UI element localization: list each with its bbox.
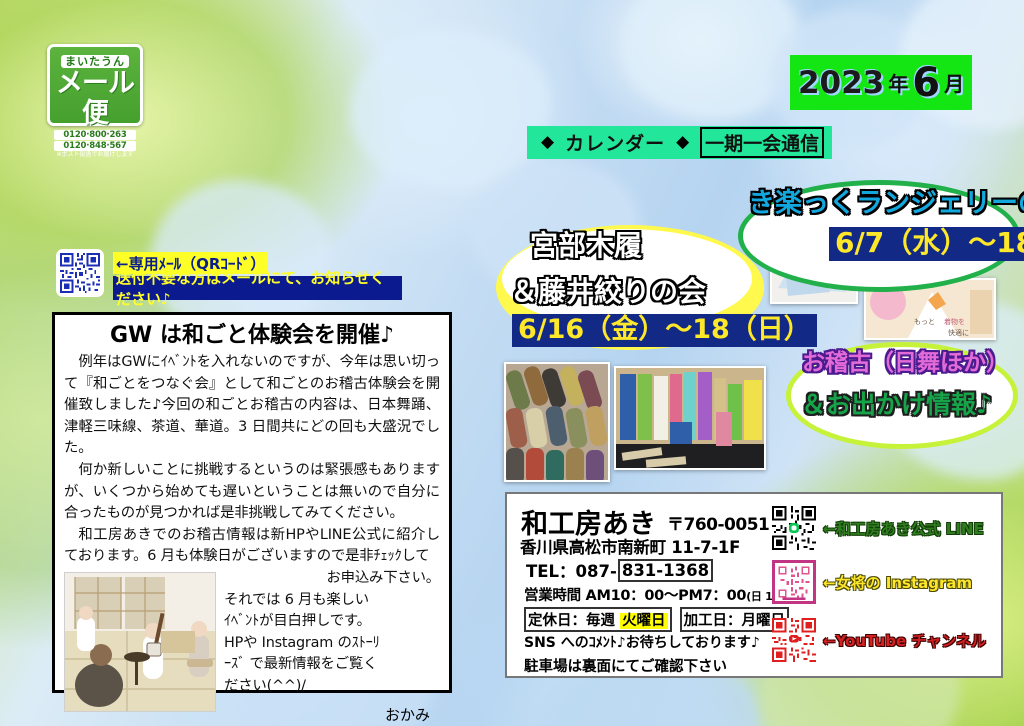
wagoto-lesson-photo bbox=[64, 572, 216, 712]
logo-note: ※ポスト投函でお届けします bbox=[54, 151, 136, 158]
event-title-geta-line2: ＆藤井絞りの会 bbox=[510, 278, 706, 306]
article-paragraph: 例年はGWにｲﾍﾞﾝﾄを入れないのですが、今年は思い切って『和ごとをつなぐ会』と… bbox=[64, 352, 440, 460]
background-petal bbox=[350, 30, 550, 190]
mail-optout-row: 送付不要な方はメールにて、お知らせください♪ bbox=[113, 276, 402, 300]
svg-text:快適に: 快適に bbox=[948, 328, 969, 337]
banner-month: 6 bbox=[912, 60, 940, 106]
logo-phone-1: 0120·800·263 bbox=[54, 130, 136, 140]
instagram-qr-label: ←女将の Instagram bbox=[823, 572, 972, 593]
tel-label: TEL：087- bbox=[526, 558, 617, 582]
geta-sandals-photo bbox=[504, 362, 610, 482]
event-title-okeiko-line2: ＆お出かけ情報♪ bbox=[801, 392, 992, 417]
article-paragraph: 何か新しいことに挑戦するというのは緊張感もありますが、いくつから始めても遅いとい… bbox=[64, 460, 440, 525]
logo-main-text: メール便 bbox=[54, 69, 136, 129]
youtube-qr-label: ←YouTube チャンネル bbox=[823, 630, 986, 651]
main-article: GW は和ごと体験会を開催♪ 例年はGWにｲﾍﾞﾝﾄを入れないのですが、今年は思… bbox=[52, 312, 452, 693]
shop-hours-row: 営業時間 AM10：00～PM7：00(日 18：00) bbox=[524, 584, 810, 605]
mail-optout-text: 送付不要な方はメールにて、お知らせください♪ bbox=[116, 267, 399, 309]
month-banner: 2023 年 6 月 bbox=[790, 55, 972, 110]
geta-photo-illustration bbox=[506, 364, 610, 482]
line-qr-code[interactable] bbox=[772, 506, 816, 550]
lesson-photo-illustration bbox=[65, 573, 216, 712]
svg-text:着物を: 着物を bbox=[944, 317, 965, 326]
sns-comment-line: SNS へのｺﾒﾝﾄ♪お待ちしております♪ bbox=[524, 632, 760, 652]
line-qr-label: ←和工房あき公式 LINE bbox=[823, 518, 984, 539]
shop-address: 香川県高松市南新町 11-7-1F bbox=[520, 534, 740, 558]
calendar-strip: ◆ カレンダー ◆ 一期一会通信 bbox=[527, 126, 832, 159]
parking-line: 駐車場は裏面にてご確認下さい bbox=[524, 655, 727, 676]
shop-postal: 〒760-0051 bbox=[667, 510, 769, 535]
qr-row-instagram[interactable]: ←女将の Instagram bbox=[772, 560, 972, 604]
instagram-qr-code[interactable] bbox=[772, 560, 816, 604]
mail-qr-code[interactable] bbox=[60, 253, 100, 293]
shop-closed-row: 定休日：毎週 火曜日 加工日：月曜日 bbox=[524, 607, 789, 632]
event-title-okeiko-line1: お稽古（日舞ほか） bbox=[802, 352, 1009, 375]
banner-month-unit: 月 bbox=[944, 68, 964, 97]
shop-info-card: 和工房あき 〒760-0051 香川県高松市南新町 11-7-1F TEL：08… bbox=[505, 492, 1003, 678]
article-title: GW は和ごと体験会を開催♪ bbox=[64, 322, 440, 350]
closed-label: 定休日：毎週 bbox=[528, 613, 615, 629]
qr-row-line[interactable]: ←和工房あき公式 LINE bbox=[772, 506, 984, 550]
diamond-icon: ◆ bbox=[541, 134, 554, 151]
youtube-qr-code[interactable] bbox=[772, 618, 816, 662]
maitown-mail-logo: まいたうん メール便 0120·800·263 0120·848·567 ※ポス… bbox=[47, 44, 143, 126]
shop-tel-row: TEL：087- 831-1368 bbox=[526, 558, 713, 582]
logo-phone-2: 0120·848·567 bbox=[54, 141, 136, 151]
newsletter-label: 一期一会通信 bbox=[700, 127, 824, 158]
svg-text:もっと: もっと bbox=[914, 318, 935, 326]
closed-day: 火曜日 bbox=[620, 613, 668, 629]
logo-top-text: まいたうん bbox=[61, 55, 129, 68]
kimono-fabric-display-photo bbox=[614, 366, 766, 470]
flyer-page: まいたうん メール便 0120·800·263 0120·848·567 ※ポス… bbox=[0, 0, 1024, 726]
qr-row-youtube[interactable]: ←YouTube チャンネル bbox=[772, 618, 986, 662]
event-date-lingerie: 6/7（水）～18（日） bbox=[829, 227, 1024, 261]
event-title-geta-line1: 宮部木履 bbox=[530, 232, 642, 260]
closed-day-box: 定休日：毎週 火曜日 bbox=[524, 607, 672, 632]
banner-year: 2023 bbox=[798, 65, 884, 101]
background-petal bbox=[620, 0, 800, 120]
diamond-icon: ◆ bbox=[676, 134, 689, 151]
mail-qr-card[interactable] bbox=[56, 249, 104, 297]
tel-number: 831-1368 bbox=[618, 559, 713, 582]
article-body: 例年はGWにｲﾍﾞﾝﾄを入れないのですが、今年は思い切って『和ごとをつなぐ会』と… bbox=[64, 352, 440, 725]
calendar-label: カレンダー bbox=[565, 129, 665, 156]
article-paragraph: 和工房あきでのお稽古情報は新HPやLINE公式に紹介しております。6 月も体験日… bbox=[64, 525, 440, 568]
event-date-geta: 6/16（金）～18（日） bbox=[512, 314, 817, 347]
event-title-lingerie: き楽っくランジェリーの会 bbox=[748, 190, 1024, 217]
hours-text: 営業時間 AM10：00～PM7：00 bbox=[524, 588, 746, 604]
banner-year-unit: 年 bbox=[888, 68, 908, 97]
fabric-photo-illustration bbox=[616, 368, 766, 470]
